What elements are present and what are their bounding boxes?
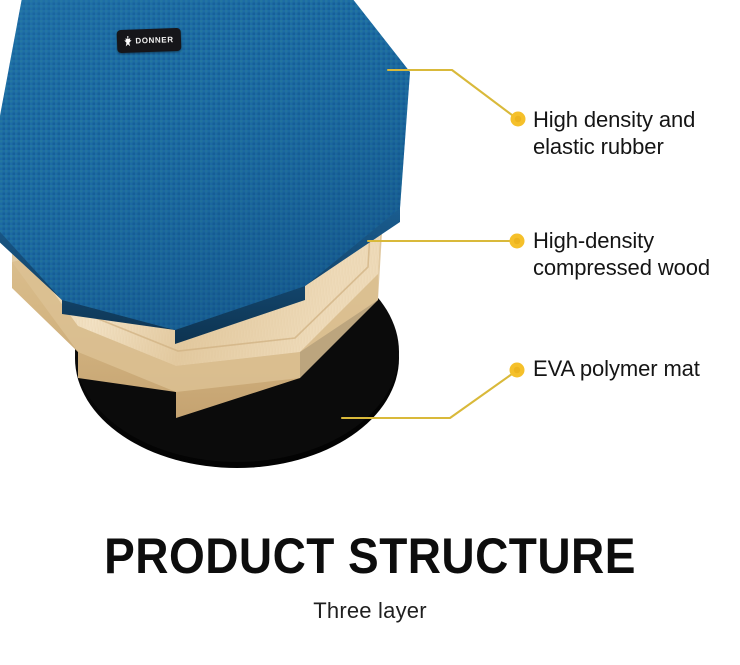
- page-title: PRODUCT STRUCTURE: [30, 530, 711, 582]
- callout-label-wood: High-density compressed wood: [533, 228, 738, 282]
- callout-label-eva: EVA polymer mat: [533, 356, 738, 383]
- product-illustration: [0, 0, 470, 470]
- caption-block: PRODUCT STRUCTURE Three layer: [0, 530, 740, 624]
- donner-logo-badge: DONNER: [117, 28, 182, 53]
- product-structure-infographic: DONNER High density and elastic rubber H…: [0, 0, 740, 665]
- donner-logo-text: DONNER: [135, 36, 174, 45]
- callout-label-rubber: High density and elastic rubber: [533, 107, 733, 161]
- donner-logo-mark: [124, 36, 132, 47]
- page-subtitle: Three layer: [0, 598, 740, 624]
